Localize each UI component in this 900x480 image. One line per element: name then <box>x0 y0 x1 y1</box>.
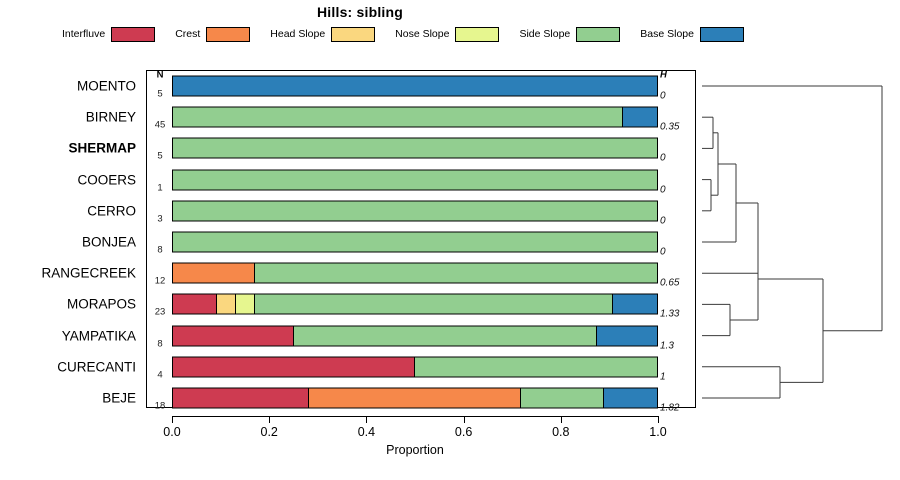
x-axis-tick <box>172 416 173 423</box>
bar-row-beje[interactable] <box>172 388 658 409</box>
dendrogram <box>700 70 900 408</box>
x-axis-tick-label: 0.4 <box>358 425 375 439</box>
row-label-morapos[interactable]: MORAPOS <box>67 297 136 312</box>
legend-item-nose-slope: Nose Slope <box>395 27 499 42</box>
row-label-bonjea[interactable]: BONJEA <box>82 235 136 250</box>
x-axis-tick-label: 0.2 <box>260 425 277 439</box>
row-label-column: MOENTOBIRNEYSHERMAPCOOERSCERROBONJEARANG… <box>0 70 142 408</box>
legend-color-swatch <box>700 27 744 42</box>
n-column: N545513812238418 <box>146 70 174 408</box>
bar-segment-side-slope <box>415 357 657 376</box>
h-value-birney: 0.35 <box>660 122 694 133</box>
bar-segment-side-slope <box>173 201 657 220</box>
n-column-header: N <box>146 70 174 81</box>
row-label-cooers[interactable]: COOERS <box>77 172 136 187</box>
legend-item-head-slope: Head Slope <box>270 27 375 42</box>
row-label-moento[interactable]: MOENTO <box>77 79 136 94</box>
bar-segment-base-slope <box>613 295 657 314</box>
bar-row-birney[interactable] <box>172 107 658 128</box>
x-axis: 0.00.20.40.60.81.0 <box>172 408 658 409</box>
row-label-curecanti[interactable]: CURECANTI <box>57 359 136 374</box>
x-axis-tick <box>561 416 562 423</box>
bar-segment-base-slope <box>597 326 658 345</box>
legend-item-crest: Crest <box>175 27 250 42</box>
bar-segment-head-slope <box>217 295 236 314</box>
x-axis-tick-label: 1.0 <box>649 425 666 439</box>
bar-segment-side-slope <box>521 389 603 408</box>
dendro-node-morapos-yampatika <box>702 304 730 335</box>
row-label-yampatika[interactable]: YAMPATIKA <box>62 328 136 343</box>
dendro-node-curecanti-beje <box>702 367 780 398</box>
bar-row-moento[interactable] <box>172 76 658 97</box>
h-value-bonjea: 0 <box>660 247 694 258</box>
dendro-node-birney-shermap <box>702 117 713 148</box>
stacked-bars <box>172 70 658 408</box>
bar-segment-side-slope <box>173 108 623 127</box>
dendro-node-ab-rangecreek <box>702 203 758 273</box>
n-value-curecanti: 4 <box>146 369 174 380</box>
bar-segment-interfluve <box>173 389 309 408</box>
legend-item-interfluve: Interfluve <box>62 27 155 42</box>
row-label-rangecreek[interactable]: RANGECREEK <box>41 266 136 281</box>
h-value-cerro: 0 <box>660 215 694 226</box>
bar-segment-nose-slope <box>236 295 255 314</box>
dendro-node-ab-bonjea <box>702 164 736 242</box>
n-value-birney: 45 <box>146 120 174 131</box>
x-axis-tick-label: 0.0 <box>163 425 180 439</box>
dendro-node-upper <box>730 238 758 320</box>
legend: InterfluveCrestHead SlopeNose SlopeSide … <box>62 24 762 44</box>
bar-row-cooers[interactable] <box>172 169 658 190</box>
h-value-morapos: 1.33 <box>660 309 694 320</box>
legend-item-label: Crest <box>175 28 200 40</box>
dendrogram-svg <box>700 70 900 408</box>
h-value-rangecreek: 0.65 <box>660 278 694 289</box>
n-value-cerro: 3 <box>146 213 174 224</box>
bar-row-curecanti[interactable] <box>172 356 658 377</box>
n-value-rangecreek: 12 <box>146 276 174 287</box>
n-value-yampatika: 8 <box>146 338 174 349</box>
bar-segment-interfluve <box>173 295 217 314</box>
x-axis-tick-label: 0.8 <box>552 425 569 439</box>
n-value-moento: 5 <box>146 89 174 100</box>
legend-item-label: Interfluve <box>62 28 105 40</box>
x-axis-tick <box>269 416 270 423</box>
row-label-beje[interactable]: BEJE <box>102 391 136 406</box>
legend-color-swatch <box>206 27 250 42</box>
n-value-bonjea: 8 <box>146 245 174 256</box>
x-axis-tick <box>658 416 659 423</box>
bar-row-morapos[interactable] <box>172 294 658 315</box>
h-value-beje: 1.82 <box>660 403 694 414</box>
legend-color-swatch <box>111 27 155 42</box>
bar-row-cerro[interactable] <box>172 200 658 221</box>
row-label-birney[interactable]: BIRNEY <box>86 110 136 125</box>
legend-item-base-slope: Base Slope <box>640 27 744 42</box>
n-value-morapos: 23 <box>146 307 174 318</box>
bar-row-rangecreek[interactable] <box>172 263 658 284</box>
legend-color-swatch <box>576 27 620 42</box>
bar-segment-side-slope <box>173 233 657 252</box>
row-label-cerro[interactable]: CERRO <box>87 203 136 218</box>
bar-segment-base-slope <box>173 77 657 96</box>
bar-row-yampatika[interactable] <box>172 325 658 346</box>
n-value-beje: 18 <box>146 401 174 412</box>
x-axis-tick-label: 0.6 <box>455 425 472 439</box>
bar-segment-side-slope <box>294 326 597 345</box>
n-value-shermap: 5 <box>146 151 174 162</box>
legend-color-swatch <box>455 27 499 42</box>
bar-segment-interfluve <box>173 357 415 376</box>
h-value-shermap: 0 <box>660 153 694 164</box>
bar-row-bonjea[interactable] <box>172 232 658 253</box>
x-axis-tick <box>464 416 465 423</box>
page-title: Hills: sibling <box>0 4 720 20</box>
dendro-node-ab <box>711 133 718 195</box>
bar-segment-side-slope <box>255 295 613 314</box>
legend-item-label: Nose Slope <box>395 28 449 40</box>
dendro-node-root <box>702 86 882 331</box>
x-axis-tick <box>366 416 367 423</box>
legend-item-label: Base Slope <box>640 28 694 40</box>
h-column: H00.3500000.651.331.311.82 <box>660 70 700 408</box>
x-axis-label: Proportion <box>172 443 658 457</box>
n-value-cooers: 1 <box>146 182 174 193</box>
h-value-moento: 0 <box>660 91 694 102</box>
bar-segment-interfluve <box>173 326 294 345</box>
legend-item-label: Side Slope <box>519 28 570 40</box>
h-value-curecanti: 1 <box>660 371 694 382</box>
h-value-yampatika: 1.3 <box>660 340 694 351</box>
dendro-node-cooers-cerro <box>702 180 711 211</box>
bar-segment-base-slope <box>604 389 657 408</box>
bar-segment-side-slope <box>173 139 657 158</box>
bar-segment-side-slope <box>255 264 657 283</box>
h-column-header: H <box>660 70 694 81</box>
row-label-shermap[interactable]: SHERMAP <box>68 141 136 156</box>
legend-item-side-slope: Side Slope <box>519 27 620 42</box>
bar-segment-base-slope <box>623 108 657 127</box>
bar-segment-crest <box>309 389 522 408</box>
bar-segment-crest <box>173 264 255 283</box>
legend-item-label: Head Slope <box>270 28 325 40</box>
bar-segment-side-slope <box>173 170 657 189</box>
legend-color-swatch <box>331 27 375 42</box>
x-axis-line <box>172 416 658 417</box>
h-value-cooers: 0 <box>660 184 694 195</box>
bar-row-shermap[interactable] <box>172 138 658 159</box>
